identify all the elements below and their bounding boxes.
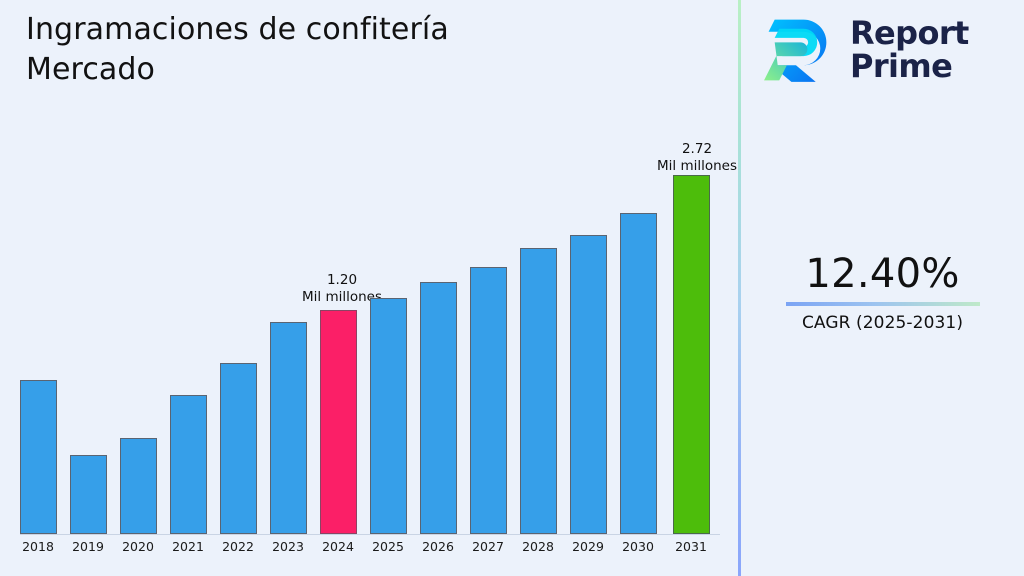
x-label-2020: 2020 (113, 539, 163, 554)
bar-2019[interactable] (70, 455, 107, 534)
x-label-2022: 2022 (213, 539, 263, 554)
cagr-value: 12.40% (741, 252, 1024, 296)
cagr-caption: CAGR (2025-2031) (741, 313, 1024, 333)
callout-base-value: 1.20 (262, 272, 422, 289)
x-label-2019: 2019 (63, 539, 113, 554)
x-label-2030: 2030 (613, 539, 663, 554)
brand-logo: Report Prime (761, 12, 969, 88)
cagr-divider-rule (786, 302, 980, 306)
bar-chart-plot: 1.20 Mil millones 2.72 Mil millones (0, 0, 739, 576)
chart-panel: Ingramaciones de confitería Mercado 1.20… (0, 0, 739, 576)
x-label-2027: 2027 (463, 539, 513, 554)
bar-2030[interactable] (620, 213, 657, 534)
brand-name: Report Prime (850, 17, 969, 84)
x-label-2031: 2031 (666, 539, 716, 554)
brand-panel: Report Prime 12.40% CAGR (2025-2031) (741, 0, 1024, 576)
bar-2025[interactable] (370, 298, 407, 534)
bar-2027[interactable] (470, 267, 507, 534)
x-label-2021: 2021 (163, 539, 213, 554)
bar-2021[interactable] (170, 395, 207, 534)
x-label-2028: 2028 (513, 539, 563, 554)
x-label-2024: 2024 (313, 539, 363, 554)
chart-page: Ingramaciones de confitería Mercado 1.20… (0, 0, 1024, 576)
report-prime-logo-icon (761, 12, 837, 88)
bar-2028[interactable] (520, 248, 557, 534)
x-axis-line (20, 534, 720, 535)
x-label-2018: 2018 (13, 539, 63, 554)
bar-2029[interactable] (570, 235, 607, 534)
x-label-2029: 2029 (563, 539, 613, 554)
x-label-2025: 2025 (363, 539, 413, 554)
bar-2023[interactable] (270, 322, 307, 534)
bar-2020[interactable] (120, 438, 157, 534)
x-label-2023: 2023 (263, 539, 313, 554)
cagr-block: 12.40% CAGR (2025-2031) (741, 252, 1024, 333)
brand-name-line1: Report (850, 17, 969, 50)
bar-2018[interactable] (20, 380, 57, 534)
brand-name-line2: Prime (850, 50, 969, 83)
x-label-2026: 2026 (413, 539, 463, 554)
bar-2031[interactable] (673, 175, 710, 534)
bar-2026[interactable] (420, 282, 457, 534)
bar-2024[interactable] (320, 310, 357, 534)
bar-2022[interactable] (220, 363, 257, 534)
